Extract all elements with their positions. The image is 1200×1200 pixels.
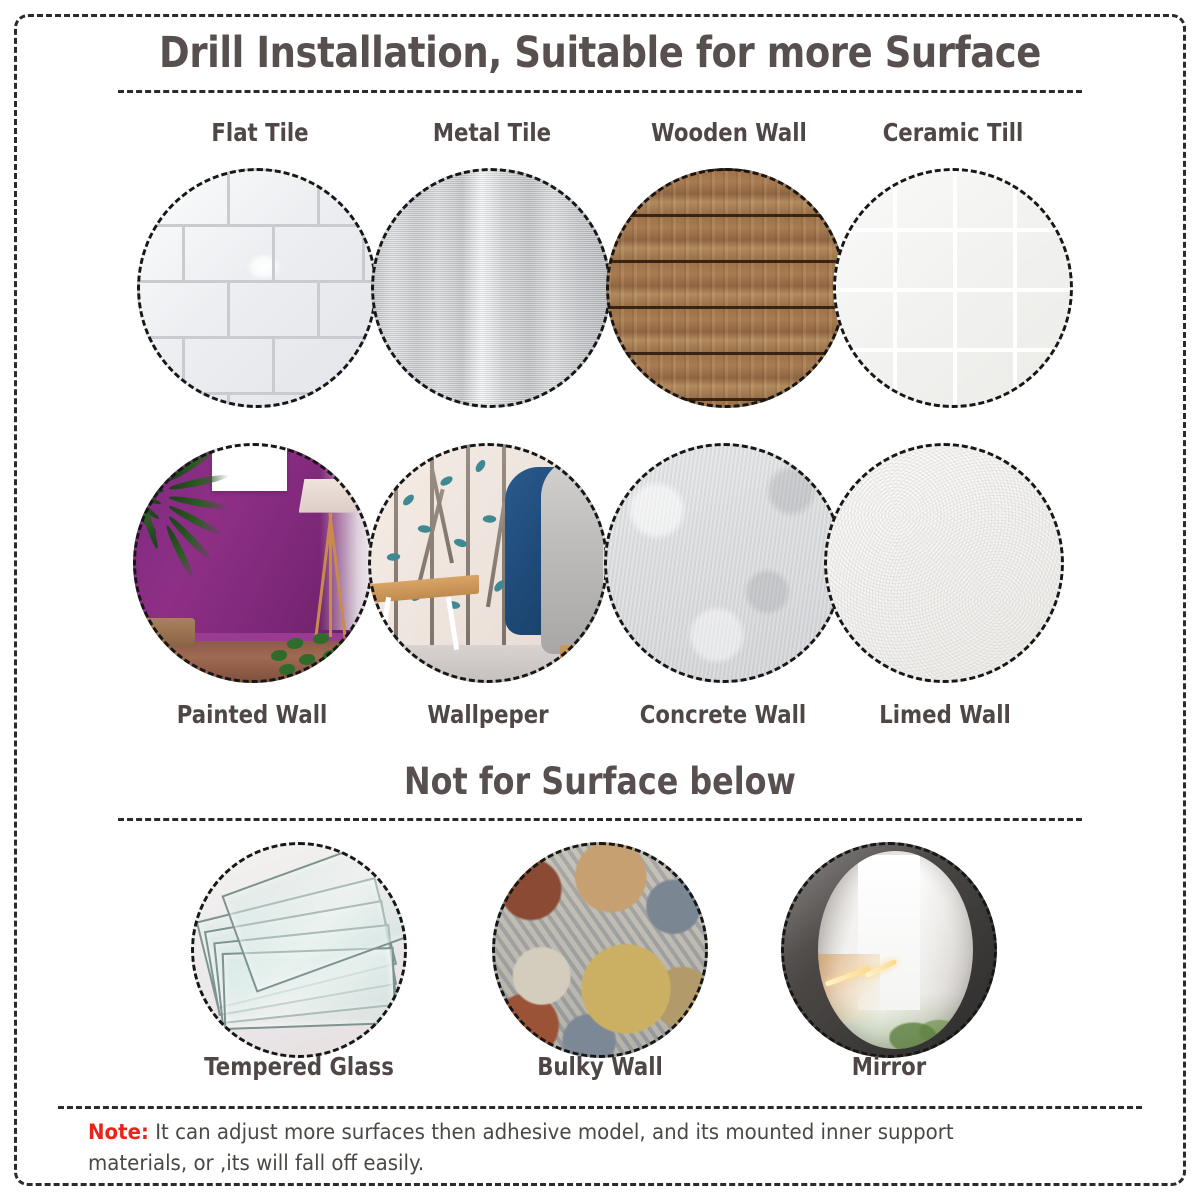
surface-circle-wallpaper	[368, 443, 608, 683]
divider-under-subheading	[118, 818, 1082, 821]
surface-circle-ceramic-till	[833, 168, 1073, 408]
note-prefix: Note:	[88, 1120, 149, 1145]
texture-rough-stone	[492, 842, 708, 1058]
surface-circle-painted-wall	[133, 443, 373, 683]
label-metal-tile: Metal Tile	[397, 118, 587, 147]
texture-stacked-glass-sheets	[191, 842, 407, 1058]
label-painted-wall: Painted Wall	[157, 700, 347, 729]
texture-white-subway-tile	[137, 168, 377, 408]
not-for-surface-heading: Not for Surface below	[84, 760, 1116, 803]
texture-gray-concrete	[604, 443, 844, 683]
gray-throw-blanket	[541, 457, 603, 654]
page-title: Drill Installation, Suitable for more Su…	[84, 28, 1116, 78]
label-ceramic-till: Ceramic Till	[855, 118, 1051, 147]
texture-round-mirror	[781, 842, 997, 1058]
label-tempered-glass: Tempered Glass	[204, 1052, 394, 1081]
texture-wood-planks	[606, 168, 846, 408]
label-wallpaper: Wallpeper	[393, 700, 583, 729]
surface-circle-wooden-wall	[606, 168, 846, 408]
divider-under-title	[118, 90, 1082, 93]
label-bulky-wall: Bulky Wall	[505, 1052, 695, 1081]
floor-ivy	[265, 616, 366, 678]
texture-brushed-steel	[371, 168, 611, 408]
texture-purple-room	[133, 443, 373, 683]
label-concrete-wall: Concrete Wall	[625, 700, 821, 729]
surface-circle-mirror	[781, 842, 997, 1058]
mirror-frame-highlight	[781, 842, 997, 1058]
tile-gloss-highlight	[247, 254, 281, 280]
texture-white-stucco	[824, 443, 1064, 683]
surface-circle-metal-tile	[371, 168, 611, 408]
infographic-page: Drill Installation, Suitable for more Su…	[0, 0, 1200, 1200]
surface-circle-tempered-glass	[191, 842, 407, 1058]
surface-circle-bulky-wall	[492, 842, 708, 1058]
note-block: Note: It can adjust more surfaces then a…	[88, 1118, 1036, 1179]
surface-circle-limed-wall	[824, 443, 1064, 683]
texture-white-square-tile	[833, 168, 1073, 408]
plant-pot	[143, 618, 196, 647]
note-text: It can adjust more surfaces then adhesiv…	[88, 1120, 954, 1176]
chair-leg	[560, 645, 582, 676]
label-limed-wall: Limed Wall	[847, 700, 1043, 729]
label-wooden-wall: Wooden Wall	[631, 118, 827, 147]
label-flat-tile: Flat Tile	[165, 118, 355, 147]
divider-above-note	[58, 1106, 1142, 1109]
surface-circle-flat-tile	[137, 168, 377, 408]
floor-lamp-shade	[299, 479, 357, 513]
surface-circle-concrete-wall	[604, 443, 844, 683]
label-mirror: Mirror	[794, 1052, 984, 1081]
texture-birch-branch-wallpaper	[368, 443, 608, 683]
